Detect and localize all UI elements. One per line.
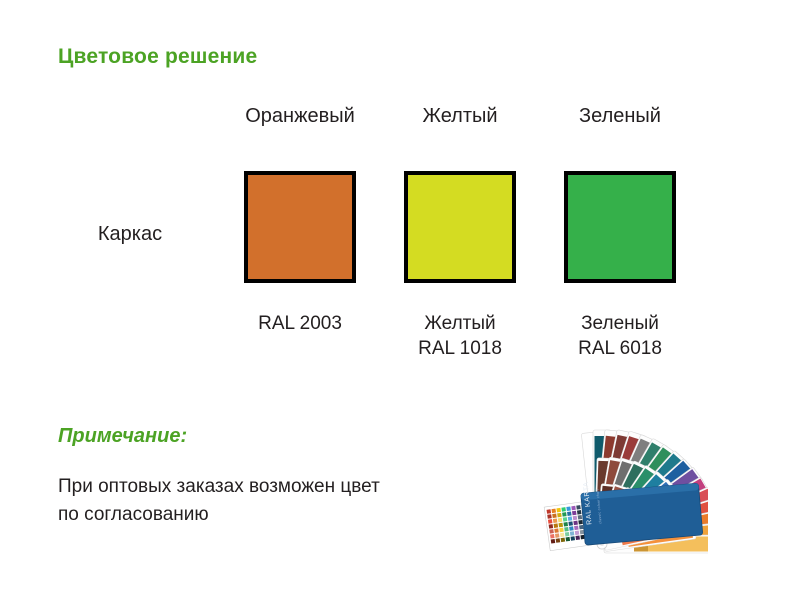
caption-line: RAL 2003 xyxy=(220,311,380,336)
caption-line: Зеленый xyxy=(540,311,700,336)
slide-canvas: Цветовое решение Оранжевый Желтый Зелены… xyxy=(0,0,800,601)
note-heading: Примечание: xyxy=(58,425,187,448)
color-swatch-yellow xyxy=(404,171,516,283)
note-body: При оптовых заказах возможен цвет по сог… xyxy=(58,473,478,529)
column-header-green: Зеленый xyxy=(540,105,700,128)
swatch-caption-orange: RAL 2003 xyxy=(220,311,380,336)
column-header-yellow: Желтый xyxy=(380,105,540,128)
swatch-caption-yellow: Желтый RAL 1018 xyxy=(380,311,540,361)
swatch-cell-orange xyxy=(220,171,380,283)
caption-line: RAL 1018 xyxy=(380,336,540,361)
caption-line: RAL 6018 xyxy=(540,336,700,361)
swatch-cell-green xyxy=(540,171,700,283)
color-swatch-orange xyxy=(244,171,356,283)
column-header-orange: Оранжевый xyxy=(220,105,380,128)
note-body-line: по согласованию xyxy=(58,501,478,529)
swatch-caption-green: Зеленый RAL 6018 xyxy=(540,311,700,361)
caption-line: Желтый xyxy=(380,311,540,336)
fan-deck-graphic: RAL KARTA classic colour chart xyxy=(484,408,708,574)
row-label-frame: Каркас xyxy=(40,223,220,246)
ral-color-fan-deck-image: RAL KARTA classic colour chart xyxy=(484,408,708,574)
swatch-cell-yellow xyxy=(380,171,540,283)
table-column-headers: Оранжевый Желтый Зеленый xyxy=(220,105,700,128)
swatch-caption-row: RAL 2003 Желтый RAL 1018 Зеленый RAL 601… xyxy=(220,311,700,361)
note-body-line: При оптовых заказах возможен цвет xyxy=(58,473,478,501)
page-title: Цветовое решение xyxy=(58,45,257,69)
color-swatch-row xyxy=(220,171,700,283)
color-swatch-green xyxy=(564,171,676,283)
